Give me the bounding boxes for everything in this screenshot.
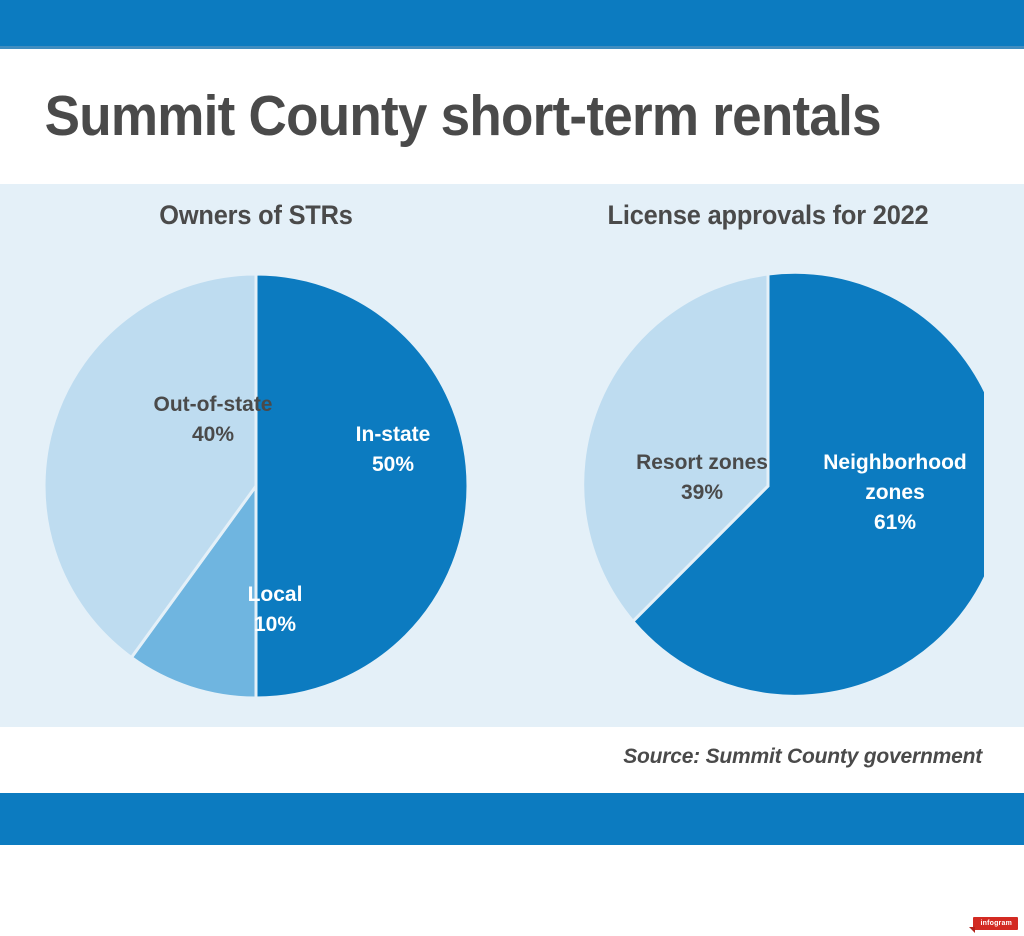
top-brand-bar [0, 0, 1024, 46]
footer-space: infogram [0, 845, 1024, 936]
infographic-root: Summit County short-term rentals Owners … [0, 0, 1024, 936]
infogram-watermark[interactable]: infogram [973, 917, 1018, 930]
title-band: Summit County short-term rentals [0, 49, 1024, 184]
pie-svg-license [552, 270, 984, 702]
chart-subtitle-license: License approvals for 2022 [527, 200, 1008, 231]
source-band: Source: Summit County government [0, 727, 1024, 793]
chart-owners-of-strs: Owners of STRs Out-of-state 40% [0, 184, 512, 727]
bottom-brand-bar [0, 793, 1024, 845]
pie-svg-owners [40, 270, 472, 702]
pie-chart-owners: Out-of-state 40% In-state 50% Local 10% [40, 270, 472, 702]
charts-panel: Owners of STRs Out-of-state 40% [0, 184, 1024, 727]
charts-row: Owners of STRs Out-of-state 40% [0, 184, 1024, 727]
pie-slice-in-state[interactable] [256, 274, 468, 698]
infogram-watermark-label: infogram [973, 917, 1018, 930]
pie-chart-license: Resort zones 39% Neighborhood zones 61% [552, 270, 984, 702]
chart-license-approvals: License approvals for 2022 Resort zones … [512, 184, 1024, 727]
chart-subtitle-owners: Owners of STRs [15, 200, 496, 231]
page-title: Summit County short-term rentals [0, 87, 881, 147]
source-credit: Source: Summit County government [623, 745, 982, 769]
